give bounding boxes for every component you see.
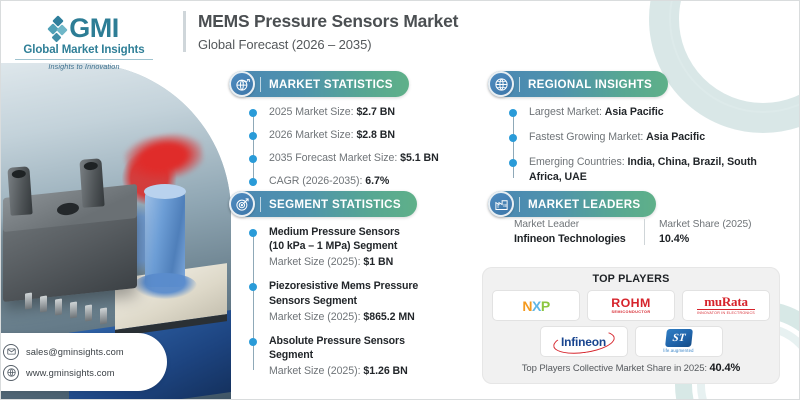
bullet-dot-icon	[249, 229, 257, 237]
photo-blue-cylinder	[145, 191, 185, 287]
page-subtitle: Global Forecast (2026 – 2035)	[198, 37, 458, 52]
stat-value: $2.8 BN	[356, 129, 395, 141]
bullet-dot-icon	[249, 338, 257, 346]
player-logo-nxp[interactable]: NXP	[492, 290, 580, 321]
list-item: CAGR (2026-2035): 6.7%	[249, 174, 459, 189]
page-title-block: MEMS Pressure Sensors Market Global Fore…	[183, 11, 458, 52]
list-item: Medium Pressure Sensors (10 kPa – 1 MPa)…	[249, 225, 464, 268]
section-title-regional-insights: REGIONAL INSIGHTS	[528, 78, 668, 91]
contact-email-row[interactable]: sales@gminsights.com	[3, 344, 159, 360]
gmi-logo[interactable]: GMI Global Market Insights Insights to I…	[9, 15, 159, 71]
stat-value: $2.7 BN	[356, 106, 395, 118]
globe-icon	[488, 71, 514, 97]
player-logo-stmicroelectronics[interactable]: ST life.augmented	[635, 326, 723, 357]
stat-label: 2026 Market Size:	[269, 129, 354, 141]
bullet-dot-icon	[509, 159, 517, 167]
market-share-label: Market Share (2025)	[659, 219, 766, 230]
header-divider	[260, 77, 261, 92]
collective-share-value: 40.4%	[710, 362, 741, 374]
section-header-market-leaders: MARKET LEADERS	[488, 191, 656, 217]
market-statistics-list: 2025 Market Size: $2.7 BN 2026 Market Si…	[249, 105, 459, 189]
market-share-column: Market Share (2025) 10.4%	[644, 219, 776, 245]
logo-company-name: Global Market Insights	[9, 44, 159, 56]
contact-website: www.gminsights.com	[26, 368, 115, 378]
photo-red-component	[122, 130, 205, 184]
contact-website-row[interactable]: www.gminsights.com	[3, 365, 159, 381]
photo-sensor-port-right	[79, 158, 104, 207]
top-players-card: TOP PLAYERS NXP ROHM SEMICONDUCTOR muRat…	[482, 267, 780, 384]
section-title-segment-statistics: SEGMENT STATISTICS	[269, 198, 417, 211]
list-item: 2026 Market Size: $2.8 BN	[249, 128, 459, 143]
page-title: MEMS Pressure Sensors Market	[198, 11, 458, 32]
section-header-segment-statistics: SEGMENT STATISTICS	[229, 191, 417, 217]
segment-statistics-list: Medium Pressure Sensors (10 kPa – 1 MPa)…	[249, 225, 464, 377]
nxp-letter-n: N	[522, 298, 532, 314]
section-title-market-statistics: MARKET STATISTICS	[269, 78, 409, 91]
top-players-row-1: NXP ROHM SEMICONDUCTOR muRata INNOVATOR …	[491, 290, 771, 321]
segment-size-label: Market Size (2025):	[269, 256, 361, 268]
segment-name-line1: Medium Pressure Sensors	[269, 226, 400, 238]
list-item: 2035 Forecast Market Size: $5.1 BN	[249, 151, 459, 166]
bullet-dot-icon	[249, 109, 257, 117]
top-players-title: TOP PLAYERS	[491, 273, 771, 285]
diamond-cluster-icon	[49, 16, 67, 42]
player-logo-rohm[interactable]: ROHM SEMICONDUCTOR	[587, 290, 675, 321]
stat-value: $5.1 BN	[400, 152, 439, 164]
list-item: Largest Market: Asia Pacific	[509, 105, 777, 120]
segment-name-line1: Piezoresistive Mems Pressure	[269, 280, 418, 292]
st-mark-icon: ST	[665, 329, 693, 347]
segment-size-label: Market Size (2025):	[269, 365, 361, 377]
photo-sensor-pins	[25, 291, 155, 331]
player-logo-infineon[interactable]: Infineon	[540, 326, 628, 357]
header-divider	[519, 77, 520, 92]
header-divider	[519, 197, 520, 212]
bullet-dot-icon	[249, 132, 257, 140]
contact-email: sales@gminsights.com	[26, 347, 124, 357]
collective-share-label: Top Players Collective Market Share in 2…	[522, 363, 707, 374]
list-item: Piezoresistive Mems Pressure Sensors Seg…	[249, 279, 464, 322]
rohm-wordmark: ROHM	[611, 297, 650, 309]
section-header-market-statistics: MARKET STATISTICS	[229, 71, 409, 97]
region-value: Asia Pacific	[605, 106, 664, 118]
logo-divider	[15, 59, 153, 60]
region-label: Largest Market:	[529, 106, 602, 118]
region-label: Emerging Countries:	[529, 156, 625, 168]
market-leader-value: Infineon Technologies	[514, 233, 634, 245]
globe-chart-icon	[229, 71, 255, 97]
bullet-dot-icon	[249, 155, 257, 163]
region-value: Asia Pacific	[646, 131, 705, 143]
stat-value: 6.7%	[365, 175, 389, 187]
factory-chart-icon	[488, 191, 514, 217]
segment-size-label: Market Size (2025):	[269, 311, 361, 323]
logo-tagline: Insights to Innovation	[9, 62, 159, 71]
market-leader-details: Market Leader Infineon Technologies Mark…	[514, 219, 776, 245]
murata-subtext: INNOVATOR IN ELECTRONICS	[697, 312, 755, 316]
stat-label: 2035 Forecast Market Size:	[269, 152, 397, 164]
envelope-icon	[3, 344, 19, 360]
market-leader-label: Market Leader	[514, 219, 634, 230]
list-item: 2025 Market Size: $2.7 BN	[249, 105, 459, 120]
player-logo-murata[interactable]: muRata INNOVATOR IN ELECTRONICS	[682, 290, 770, 321]
segment-name-line2: Segment	[269, 349, 313, 361]
infographic-canvas: GMI Global Market Insights Insights to I…	[0, 0, 800, 400]
st-subtext: life.augmented	[663, 349, 693, 353]
segment-name-line2: (10 kPa – 1 MPa) Segment	[269, 240, 397, 252]
nxp-letter-p: P	[541, 298, 550, 314]
infineon-wordmark: Infineon	[561, 335, 606, 349]
nxp-letter-x: X	[532, 298, 541, 314]
target-arrow-icon	[229, 191, 255, 217]
market-leader-column: Market Leader Infineon Technologies	[514, 219, 644, 245]
section-title-market-leaders: MARKET LEADERS	[528, 198, 656, 211]
bullet-dot-icon	[249, 178, 257, 186]
logo-wordmark: GMI	[69, 15, 119, 42]
globe-icon	[3, 365, 19, 381]
segment-name-line2: Sensors Segment	[269, 295, 357, 307]
rohm-subtext: SEMICONDUCTOR	[611, 311, 650, 315]
region-label: Fastest Growing Market:	[529, 131, 643, 143]
list-item: Emerging Countries: India, China, Brazil…	[509, 155, 777, 185]
list-item: Absolute Pressure Sensors Segment Market…	[249, 334, 464, 377]
market-share-value: 10.4%	[659, 233, 766, 245]
stat-label: CAGR (2026-2035):	[269, 175, 362, 187]
murata-wordmark: muRata	[697, 295, 755, 310]
top-players-row-2: Infineon ST life.augmented	[491, 326, 771, 357]
segment-size-value: $865.2 MN	[363, 311, 414, 323]
regional-insights-list: Largest Market: Asia Pacific Fastest Gro…	[509, 105, 777, 185]
bullet-dot-icon	[249, 283, 257, 291]
top-players-footer: Top Players Collective Market Share in 2…	[491, 362, 771, 374]
contact-info-panel: sales@gminsights.com www.gminsights.com	[0, 333, 167, 391]
list-item: Fastest Growing Market: Asia Pacific	[509, 130, 777, 145]
stat-label: 2025 Market Size:	[269, 106, 354, 118]
decorative-ring-top-right-inner	[669, 1, 799, 113]
bullet-dot-icon	[509, 134, 517, 142]
segment-size-value: $1.26 BN	[363, 365, 407, 377]
segment-size-value: $1 BN	[363, 256, 393, 268]
bullet-dot-icon	[509, 109, 517, 117]
header-divider	[260, 197, 261, 212]
segment-name-line1: Absolute Pressure Sensors	[269, 335, 405, 347]
section-header-regional-insights: REGIONAL INSIGHTS	[488, 71, 668, 97]
photo-sensor-port-left	[7, 166, 32, 215]
